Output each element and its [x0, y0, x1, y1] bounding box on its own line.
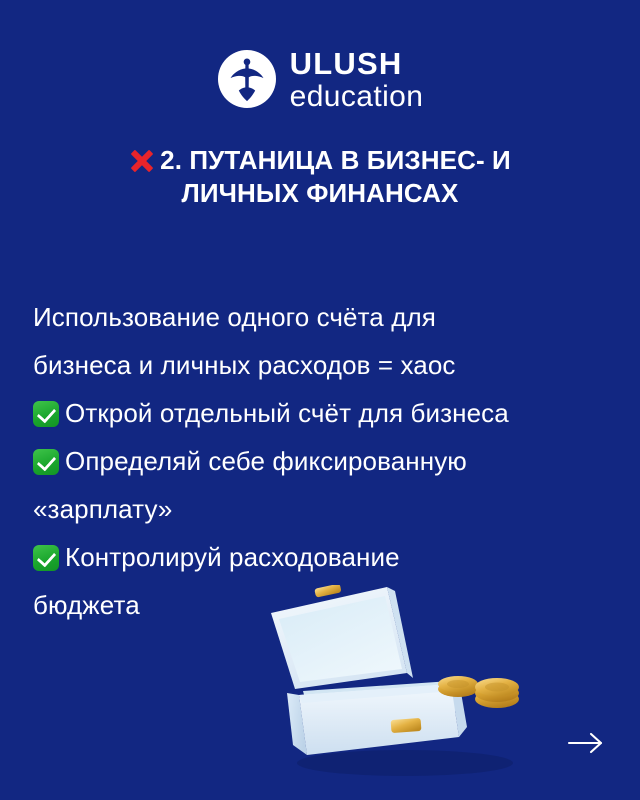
body-line: Открой отдельный счёт для бизнеса [33, 389, 613, 437]
body-line-text: бюджета [33, 590, 140, 620]
ulush-bird-circle-logo-icon [217, 49, 277, 109]
body-line-text: Использование одного счёта для [33, 302, 436, 332]
open-treasure-chest-with-gold-coins-icon [255, 585, 555, 785]
body-line-text: «зарплату» [33, 494, 172, 524]
body-line-text: Открой отдельный счёт для бизнеса [65, 398, 509, 428]
page-title: 2. ПУТАНИЦА В БИЗНЕС- И ЛИЧНЫХ ФИНАНСАХ [50, 144, 590, 211]
body-line-text: бизнеса и личных расходов = хаос [33, 350, 456, 380]
page-title-line-2: ЛИЧНЫХ ФИНАНСАХ [182, 178, 459, 208]
page-title-line-1: 2. ПУТАНИЦА В БИЗНЕС- И [160, 145, 511, 175]
body-line: Определяй себе фиксированную [33, 437, 613, 485]
check-mark-button-icon [33, 545, 59, 571]
cross-mark-icon [129, 148, 155, 173]
brand-name-top: ULUSH [290, 48, 403, 79]
body-line: Использование одного счёта для [33, 293, 613, 341]
body-line: «зарплату» [33, 485, 613, 533]
body-line-text: Контролируй расходование [65, 542, 400, 572]
body-text-block: Использование одного счёта для бизнеса и… [33, 293, 613, 629]
check-mark-button-icon [33, 449, 59, 475]
body-line: бизнеса и личных расходов = хаос [33, 341, 613, 389]
body-line: Контролируй расходование [33, 533, 613, 581]
brand-name-bottom: education [290, 82, 424, 112]
arrow-right-icon[interactable] [567, 731, 607, 755]
brand-wordmark: ULUSH education [290, 46, 424, 112]
slide-canvas: ULUSH education 2. ПУТАНИЦА В БИЗНЕС- И … [0, 0, 640, 800]
body-line-text: Определяй себе фиксированную [65, 446, 467, 476]
brand-logo: ULUSH education [0, 46, 640, 112]
check-mark-button-icon [33, 401, 59, 427]
